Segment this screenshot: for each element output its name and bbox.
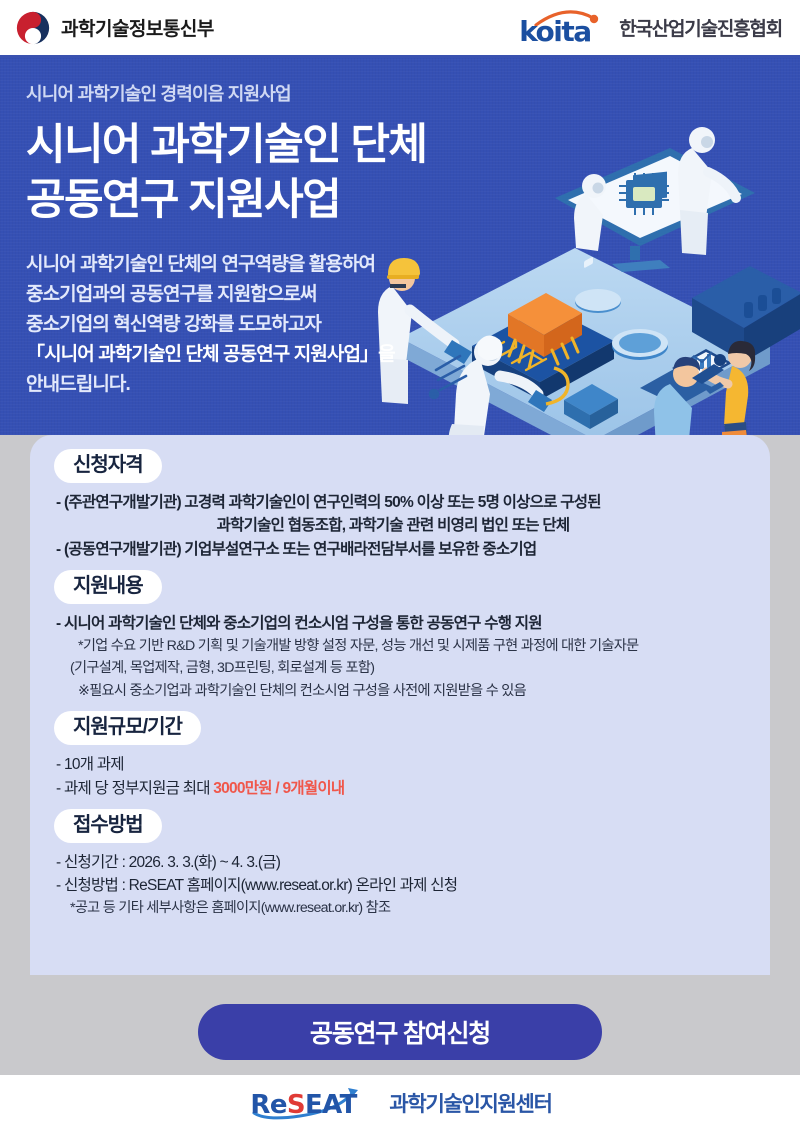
section-body-eligibility: - (주관연구개발기관) 고경력 과학기술인이 연구인력의 50% 이상 또는 … bbox=[54, 483, 746, 561]
section-body-support-content: - 시니어 과학기술인 단체와 중소기업의 컨소시엄 구성을 통한 공동연구 수… bbox=[54, 604, 746, 703]
scale-line-1: - 10개 과제 bbox=[56, 753, 744, 776]
hero-banner: 시니어 과학기술인 경력이음 지원사업 시니어 과학기술인 단체 공동연구 지원… bbox=[0, 58, 800, 435]
reseat-wordmark: ReSEAT bbox=[250, 1090, 356, 1120]
koita-wordmark: koita bbox=[519, 15, 590, 48]
section-application-method: 접수방법 - 신청기간 : 2026. 3. 3.(화) ~ 4. 3.(금) … bbox=[54, 809, 746, 920]
scale-line-2-plain: - 과제 당 정부지원금 최대 bbox=[56, 780, 213, 797]
details-card: 신청자격 - (주관연구개발기관) 고경력 과학기술인이 연구인력의 50% 이… bbox=[30, 435, 770, 975]
eligibility-line-3: - (공동연구개발기관) 기업부설연구소 또는 연구배라전담부서를 보유한 중소… bbox=[56, 538, 744, 561]
hero-text-block: 시니어 과학기술인 경력이음 지원사업 시니어 과학기술인 단체 공동연구 지원… bbox=[26, 80, 496, 400]
section-label-support-content: 지원내용 bbox=[54, 570, 162, 604]
hero-desc-line-1: 시니어 과학기술인 단체의 연구역량을 활용하여 bbox=[26, 250, 496, 280]
poster-header: 과학기술정보통신부 koita 한국산업기술진흥협회 bbox=[0, 0, 800, 55]
reseat-word-pre: Re bbox=[250, 1090, 286, 1120]
scale-line-2-highlight: 3000만원 / 9개월이내 bbox=[213, 780, 344, 797]
ministry-name-label: 과학기술정보통신부 bbox=[61, 14, 214, 41]
support-note-2: (기구설계, 목업제작, 금형, 3D프린팅, 회로설계 등 포함) bbox=[56, 657, 744, 679]
scale-line-2: - 과제 당 정부지원금 최대 3000만원 / 9개월이내 bbox=[56, 777, 744, 800]
apply-line-2: - 신청방법 : ReSEAT 홈페이지(www.reseat.or.kr) 온… bbox=[56, 874, 744, 897]
eligibility-line-1: - (주관연구개발기관) 고경력 과학기술인이 연구인력의 50% 이상 또는 … bbox=[56, 491, 744, 514]
hero-description: 시니어 과학기술인 단체의 연구역량을 활용하여 중소기업과의 공동연구를 지원… bbox=[26, 250, 496, 400]
section-label-scale-duration: 지원규모/기간 bbox=[54, 711, 201, 745]
hero-desc-line-4: 「시니어 과학기술인 단체 공동연구 지원사업」을 bbox=[26, 340, 496, 370]
section-body-scale-duration: - 10개 과제 - 과제 당 정부지원금 최대 3000만원 / 9개월이내 bbox=[54, 745, 746, 800]
reseat-word-post: EAT bbox=[305, 1090, 357, 1120]
support-note-1: *기업 수요 기반 R&D 기획 및 기술개발 방향 설정 자문, 성능 개선 … bbox=[56, 635, 744, 657]
poster-footer: ReSEAT 과학기술인지원센터 bbox=[0, 1075, 800, 1131]
koita-name-label: 한국산업기술진흥협회 bbox=[619, 14, 782, 41]
hero-desc-line-5: 안내드립니다. bbox=[26, 370, 496, 400]
reseat-center-name: 과학기술인지원센터 bbox=[389, 1088, 551, 1118]
poster-root: 과학기술정보통신부 koita 한국산업기술진흥협회 bbox=[0, 0, 800, 1131]
koita-logo-group: koita 한국산업기술진흥협회 bbox=[519, 7, 782, 49]
section-scale-duration: 지원규모/기간 - 10개 과제 - 과제 당 정부지원금 최대 3000만원 … bbox=[54, 711, 746, 800]
hero-title-line-2: 공동연구 지원사업 bbox=[26, 173, 496, 228]
taeguk-icon bbox=[14, 9, 52, 47]
apply-note-1: *공고 등 기타 세부사항은 홈페이지(www.reseat.or.kr) 참조 bbox=[56, 897, 744, 919]
section-eligibility: 신청자격 - (주관연구개발기관) 고경력 과학기술인이 연구인력의 50% 이… bbox=[54, 449, 746, 561]
cta-container: 공동연구 참여신청 bbox=[0, 1004, 800, 1060]
hero-desc-line-2: 중소기업과의 공동연구를 지원함으로써 bbox=[26, 280, 496, 310]
hero-title: 시니어 과학기술인 단체 공동연구 지원사업 bbox=[26, 118, 496, 228]
hero-desc-line-3: 중소기업의 혁신역량 강화를 도모하고자 bbox=[26, 310, 496, 340]
eligibility-line-2: 과학기술인 협동조합, 과학기술 관련 비영리 법인 또는 단체 bbox=[56, 514, 744, 537]
support-line-1: - 시니어 과학기술인 단체와 중소기업의 컨소시엄 구성을 통한 공동연구 수… bbox=[56, 612, 744, 635]
section-support-content: 지원내용 - 시니어 과학기술인 단체와 중소기업의 컨소시엄 구성을 통한 공… bbox=[54, 570, 746, 703]
apply-button[interactable]: 공동연구 참여신청 bbox=[198, 1004, 602, 1060]
reseat-word-s: S bbox=[287, 1090, 305, 1120]
section-label-eligibility: 신청자격 bbox=[54, 449, 162, 483]
section-label-application-method: 접수방법 bbox=[54, 809, 162, 843]
koita-mark: koita bbox=[519, 7, 611, 49]
section-body-application-method: - 신청기간 : 2026. 3. 3.(화) ~ 4. 3.(금) - 신청방… bbox=[54, 843, 746, 920]
hero-title-line-1: 시니어 과학기술인 단체 bbox=[26, 118, 496, 173]
ministry-logo-group: 과학기술정보통신부 bbox=[14, 9, 214, 47]
reseat-logo: ReSEAT bbox=[248, 1085, 380, 1121]
support-note-3: ※필요시 중소기업과 과학기술인 단체의 컨소시엄 구성을 사전에 지원받을 수… bbox=[56, 680, 744, 702]
hero-eyebrow: 시니어 과학기술인 경력이음 지원사업 bbox=[26, 80, 496, 106]
apply-line-1: - 신청기간 : 2026. 3. 3.(화) ~ 4. 3.(금) bbox=[56, 851, 744, 874]
